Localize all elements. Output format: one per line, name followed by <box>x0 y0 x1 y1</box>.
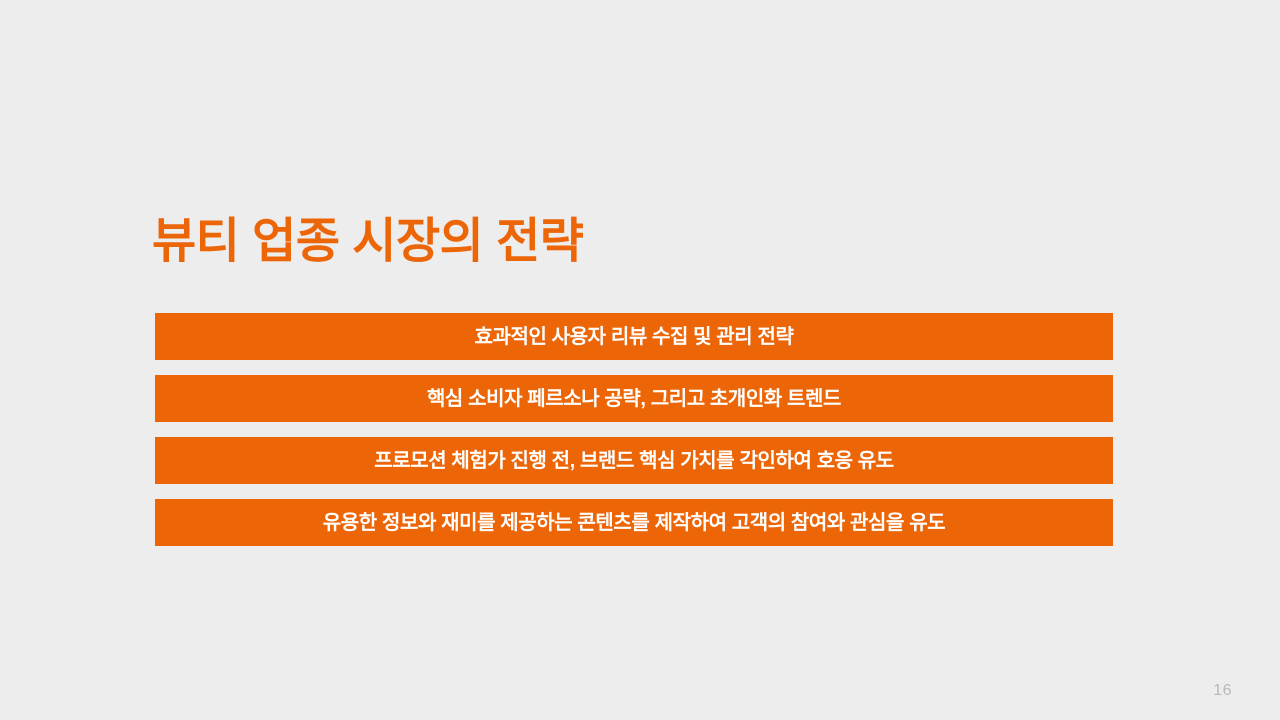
strategy-bar-label: 유용한 정보와 재미를 제공하는 콘텐츠를 제작하여 고객의 참여와 관심을 유… <box>323 513 945 533</box>
strategy-bar-3: 프로모션 체험가 진행 전, 브랜드 핵심 가치를 각인하여 호응 유도 <box>155 437 1113 484</box>
strategy-bar-2: 핵심 소비자 페르소나 공략, 그리고 초개인화 트렌드 <box>155 375 1113 422</box>
strategy-bar-label: 효과적인 사용자 리뷰 수집 및 관리 전략 <box>475 327 794 347</box>
strategy-bar-list: 효과적인 사용자 리뷰 수집 및 관리 전략 핵심 소비자 페르소나 공략, 그… <box>155 313 1113 546</box>
strategy-bar-4: 유용한 정보와 재미를 제공하는 콘텐츠를 제작하여 고객의 참여와 관심을 유… <box>155 499 1113 546</box>
strategy-bar-1: 효과적인 사용자 리뷰 수집 및 관리 전략 <box>155 313 1113 360</box>
strategy-bar-label: 프로모션 체험가 진행 전, 브랜드 핵심 가치를 각인하여 호응 유도 <box>374 451 894 471</box>
presentation-slide: 뷰티 업종 시장의 전략 효과적인 사용자 리뷰 수집 및 관리 전략 핵심 소… <box>0 0 1280 720</box>
page-title: 뷰티 업종 시장의 전략 <box>152 206 1052 278</box>
strategy-bar-label: 핵심 소비자 페르소나 공략, 그리고 초개인화 트렌드 <box>427 389 841 409</box>
page-number: 16 <box>1213 682 1232 700</box>
